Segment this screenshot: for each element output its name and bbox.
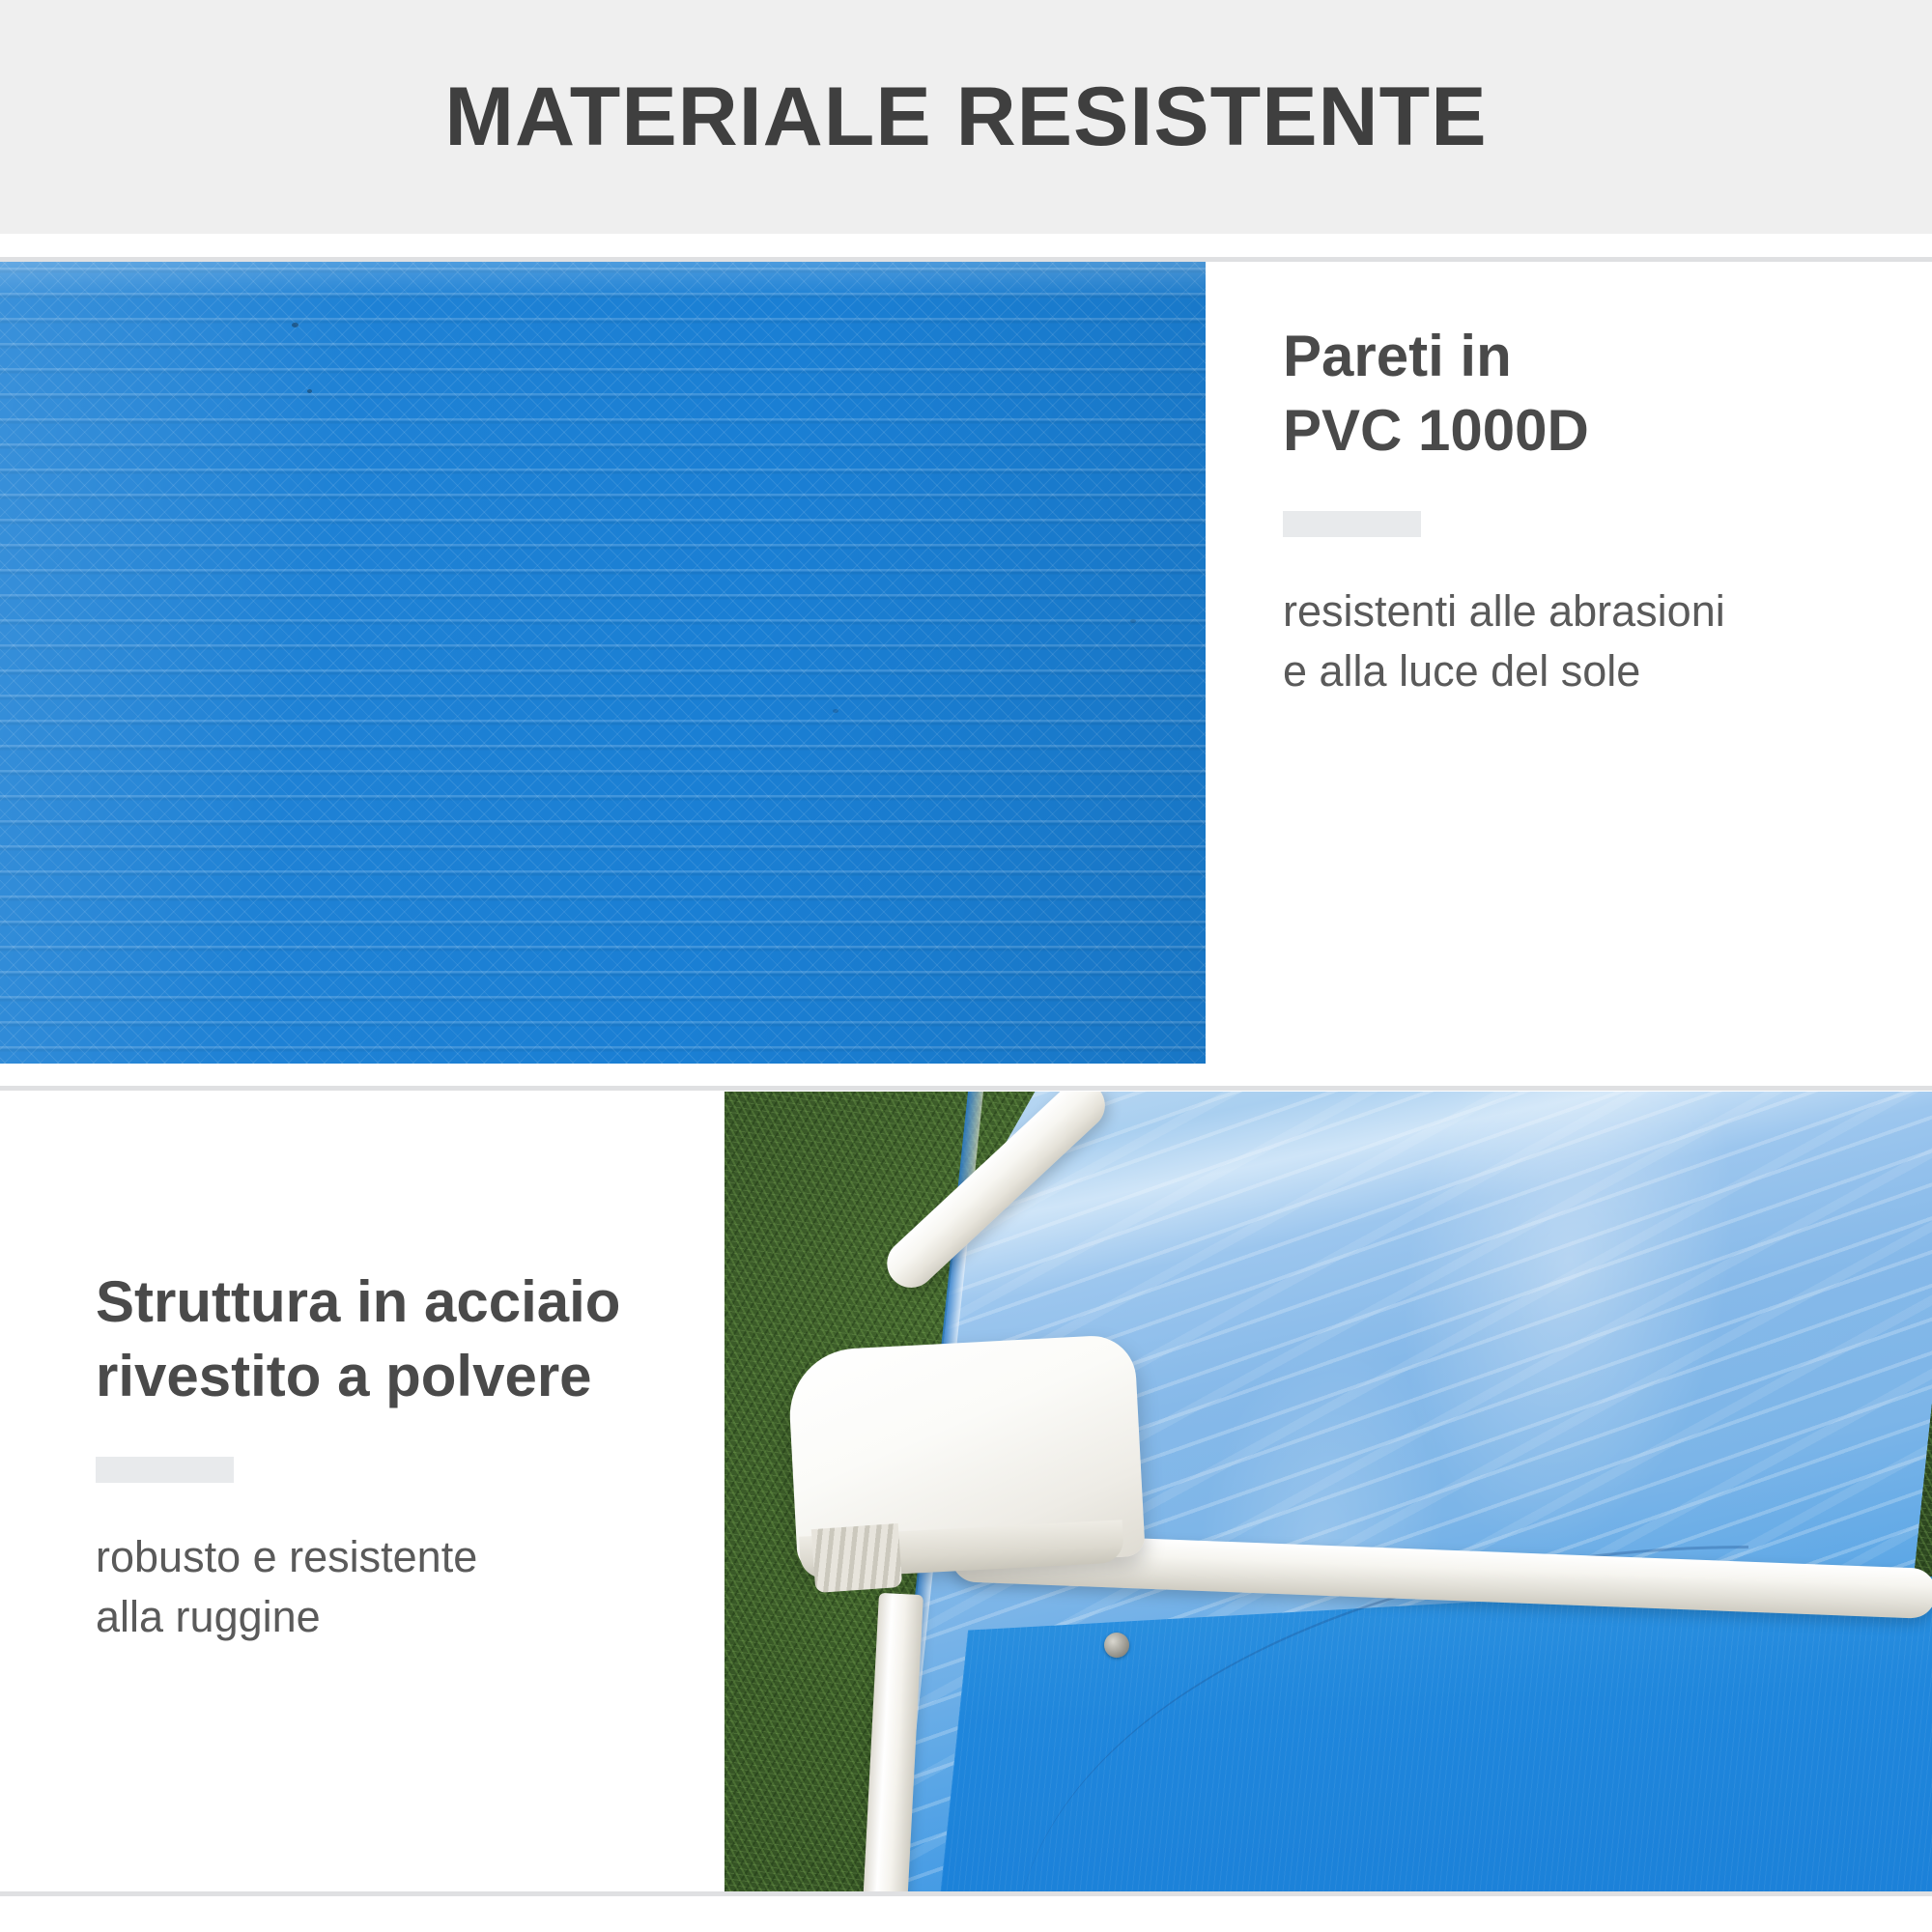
pvc-walls-text-block: Pareti in PVC 1000D resistenti alle abra…: [1283, 320, 1901, 701]
pvc-top-highlight: [0, 262, 1206, 300]
joint-ribs: [811, 1523, 902, 1593]
pvc-speck: [307, 389, 312, 393]
pvc-walls-divider: [1283, 511, 1421, 537]
pvc-fabric-texture-image: [0, 262, 1206, 1064]
pool-corner-joint-image: [724, 1092, 1932, 1896]
steel-frame-heading: Struttura in acciaio rivestito a polvere: [96, 1265, 714, 1414]
joint-screw: [1104, 1633, 1129, 1658]
page-title: MATERIALE RESISTENTE: [0, 0, 1932, 234]
footer-rule: [0, 1891, 1932, 1896]
pvc-speck: [292, 323, 298, 327]
pvc-walls-heading: Pareti in PVC 1000D: [1283, 320, 1901, 469]
steel-frame-text-block: Struttura in acciaio rivestito a polvere…: [96, 1265, 714, 1647]
pvc-speck: [833, 709, 838, 713]
section-divider-rule: [0, 1086, 1932, 1091]
pvc-speck: [1130, 619, 1136, 623]
steel-frame-divider: [96, 1457, 234, 1483]
infographic-page: MATERIALE RESISTENTE Pareti in PVC 1000D…: [0, 0, 1932, 1932]
section-pvc-walls: Pareti in PVC 1000D resistenti alle abra…: [0, 262, 1932, 1064]
steel-frame-body-text: robusto e resistente alla ruggine: [96, 1527, 714, 1647]
pvc-walls-body-text: resistenti alle abrasioni e alla luce de…: [1283, 582, 1901, 701]
section-steel-frame: Struttura in acciaio rivestito a polvere…: [0, 1092, 1932, 1896]
pvc-sheen-overlay: [0, 262, 1206, 1064]
